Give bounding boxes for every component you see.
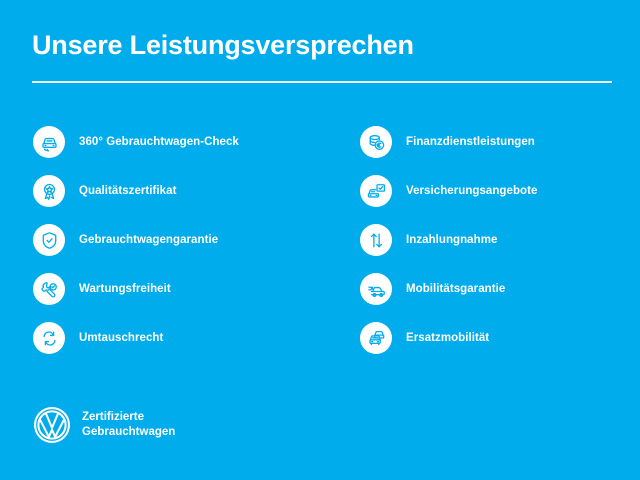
promise-item-versicherungsangebote: Versicherungsangebote	[360, 175, 640, 224]
promise-label: Inzahlungnahme	[406, 224, 640, 256]
wrench-check-icon	[33, 273, 65, 305]
promises-column-left: 360° Gebrauchtwagen-Check Qualitätszerti…	[33, 126, 323, 371]
coins-euro-icon	[360, 126, 392, 158]
brand-lockup: Zertifizierte Gebrauchtwagen	[33, 406, 175, 444]
promise-item-wartungsfreiheit: Wartungsfreiheit	[33, 273, 323, 322]
up-down-arrows-icon	[360, 224, 392, 256]
shield-check-icon	[33, 224, 65, 256]
promises-section: 360° Gebrauchtwagen-Check Qualitätszerti…	[0, 126, 640, 366]
two-cars-icon	[360, 322, 392, 354]
promise-item-mobilitaetsgarantie: Mobilitätsgarantie	[360, 273, 640, 322]
promise-item-ersatzmobilitaet: Ersatzmobilität	[360, 322, 640, 371]
volkswagen-roundel-logo	[33, 406, 71, 444]
car-inspection-icon	[33, 126, 65, 158]
promise-item-inzahlungnahme: Inzahlungnahme	[360, 224, 640, 273]
promise-label: Ersatzmobilität	[406, 322, 640, 354]
promises-column-right: Finanzdienstleistungen Versicherungsange…	[360, 126, 640, 371]
brand-text-line2: Gebrauchtwagen	[82, 425, 175, 440]
promise-item-umtauschrecht: Umtauschrecht	[33, 322, 323, 371]
car-checklist-icon	[360, 175, 392, 207]
promise-label: Umtauschrecht	[79, 322, 323, 354]
title-divider	[32, 81, 612, 83]
leistungsversprechen-poster: Unsere Leistungsversprechen 360° Gebrauc…	[0, 0, 640, 480]
promise-label: Wartungsfreiheit	[79, 273, 323, 305]
poster-header: Unsere Leistungsversprechen	[32, 28, 612, 62]
promise-item-finanzdienstleistungen: Finanzdienstleistungen	[360, 126, 640, 175]
promise-label: Finanzdienstleistungen	[406, 126, 640, 158]
page-title: Unsere Leistungsversprechen	[32, 28, 612, 62]
promise-label: Mobilitätsgarantie	[406, 273, 640, 305]
promise-item-gebrauchtwagengarantie: Gebrauchtwagengarantie	[33, 224, 323, 273]
tow-truck-icon	[360, 273, 392, 305]
award-rosette-icon	[33, 175, 65, 207]
promise-label: Versicherungsangebote	[406, 175, 640, 207]
promise-item-qualitaetszertifikat: Qualitätszertifikat	[33, 175, 323, 224]
promise-label: Gebrauchtwagengarantie	[79, 224, 323, 256]
promise-label: 360° Gebrauchtwagen-Check	[79, 126, 323, 158]
promise-label: Qualitätszertifikat	[79, 175, 323, 207]
exchange-arrows-icon	[33, 322, 65, 354]
brand-text: Zertifizierte Gebrauchtwagen	[82, 410, 175, 440]
brand-text-line1: Zertifizierte	[82, 410, 175, 425]
promise-item-gebrauchtwagen-check: 360° Gebrauchtwagen-Check	[33, 126, 323, 175]
